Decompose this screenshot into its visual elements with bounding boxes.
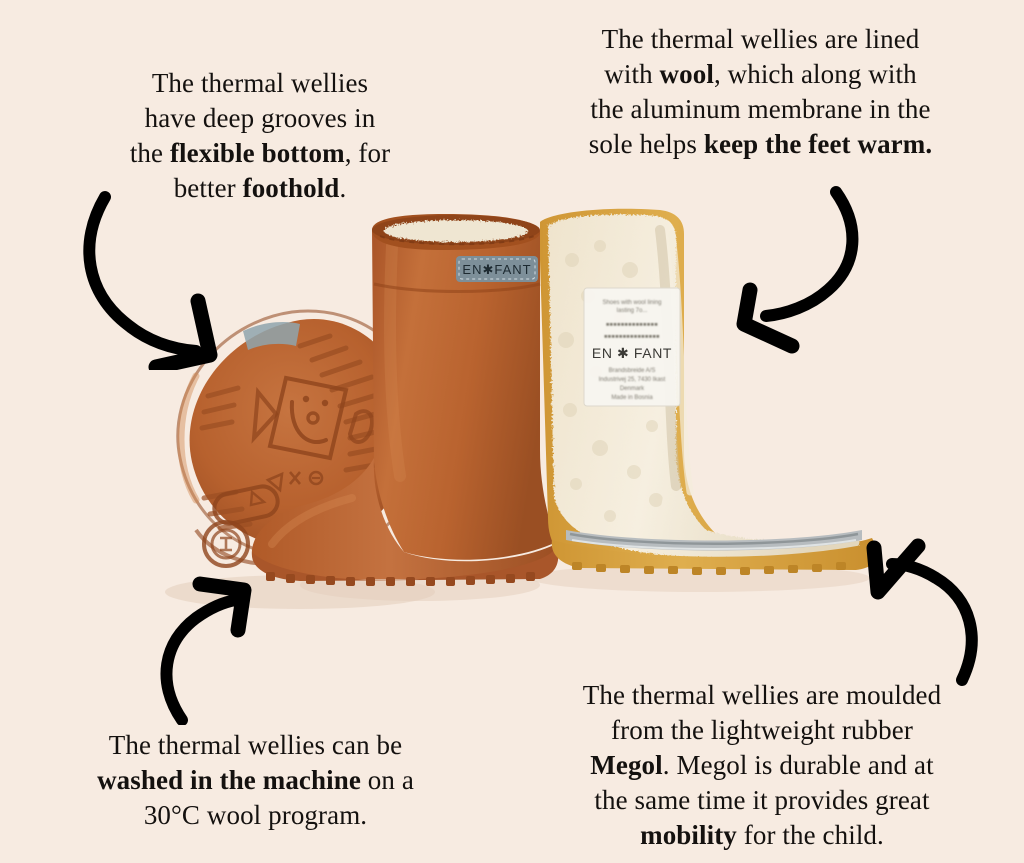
svg-text:Shoes with wool lining: Shoes with wool lining — [602, 300, 661, 306]
svg-text:Industrivej 25, 7430 Ikast: Industrivej 25, 7430 Ikast — [599, 377, 666, 383]
brand-patch: EN✱FANT — [456, 256, 538, 282]
arrow-to-boot-toe — [130, 560, 320, 725]
svg-text:EN✱FANT: EN✱FANT — [462, 262, 531, 277]
machine-wash-callout: The thermal wellies can bewashed in the … — [18, 728, 493, 833]
svg-text:Made in Bosnia: Made in Bosnia — [611, 395, 653, 401]
svg-text:Denmark: Denmark — [620, 386, 645, 392]
flexible-bottom-callout: The thermal wellieshave deep grooves int… — [60, 66, 460, 206]
liner-care-label: Shoes with wool lining lasting 7o... ■■■… — [584, 288, 680, 406]
svg-text:EN ✱ FANT: EN ✱ FANT — [592, 345, 672, 361]
svg-text:lasting 7o...: lasting 7o... — [617, 308, 648, 314]
arrow-to-sole — [70, 185, 270, 370]
svg-text:■■■■■■■■■■■■■■■: ■■■■■■■■■■■■■■■ — [604, 334, 660, 340]
megol-rubber-callout: The thermal wellies are mouldedfrom the … — [508, 678, 1016, 853]
svg-text:Brandsbreide A/S: Brandsbreide A/S — [609, 368, 656, 374]
arrow-to-liner-sole — [840, 520, 1024, 690]
arrow-to-wool — [718, 182, 908, 362]
infographic-canvas: EN✱FANT — [0, 0, 1024, 863]
wool-lining-callout: The thermal wellies are linedwith wool, … — [508, 22, 1013, 162]
svg-text:■■■■■■■■■■■■■■: ■■■■■■■■■■■■■■ — [606, 322, 658, 328]
